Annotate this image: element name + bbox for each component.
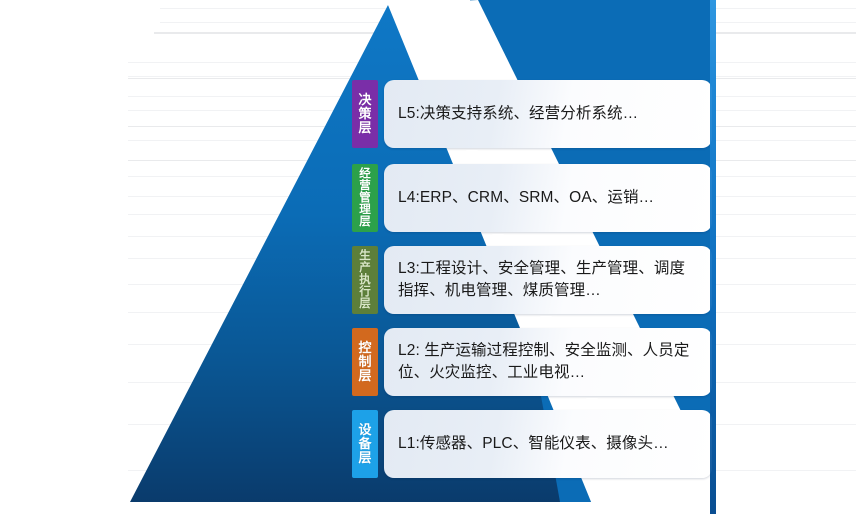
level-card-l2-line-1: 位、火灾监控、工业电视… [398, 362, 689, 384]
level-card-l5[interactable]: L5:决策支持系统、经营分析系统… [384, 80, 712, 148]
level-tag-l2-char-2: 层 [358, 369, 371, 383]
level-row-l1[interactable]: 设 备 层 L1:传感器、PLC、智能仪表、摄像头… [352, 410, 712, 478]
level-tag-l4-char-3: 理 [359, 204, 371, 216]
level-row-l2[interactable]: 控 制 层 L2: 生产运输过程控制、安全监测、人员定 位、火灾监控、工业电视… [352, 328, 712, 396]
level-card-l2-text: L2: 生产运输过程控制、安全监测、人员定 位、火灾监控、工业电视… [398, 340, 689, 385]
level-card-l3-line-0: L3:工程设计、安全管理、生产管理、调度 [398, 258, 685, 280]
level-card-l2[interactable]: L2: 生产运输过程控制、安全监测、人员定 位、火灾监控、工业电视… [384, 328, 712, 396]
level-tag-l1-char-1: 备 [358, 437, 371, 451]
level-row-l4[interactable]: 经 营 管 理 层 L4:ERP、CRM、SRM、OA、运销… [352, 164, 712, 232]
connector-arrow-2 [492, 234, 504, 242]
level-tag-l5[interactable]: 决 策 层 [352, 80, 378, 148]
level-card-l4-text: L4:ERP、CRM、SRM、OA、运销… [398, 187, 654, 209]
level-tag-l4-char-2: 管 [359, 192, 371, 204]
level-tag-l4[interactable]: 经 营 管 理 层 [352, 164, 378, 232]
level-card-l1-line-0: L1:传感器、PLC、智能仪表、摄像头… [398, 433, 669, 455]
level-tag-l4-char-0: 经 [359, 168, 371, 180]
connector-arrow-3 [540, 316, 552, 324]
level-card-l2-line-0: L2: 生产运输过程控制、安全监测、人员定 [398, 340, 689, 362]
level-tag-l3-char-1: 产 [359, 262, 371, 274]
level-card-l3-text: L3:工程设计、安全管理、生产管理、调度 指挥、机电管理、煤质管理… [398, 258, 685, 303]
level-card-l1-text: L1:传感器、PLC、智能仪表、摄像头… [398, 433, 669, 455]
level-tag-l3-char-4: 层 [359, 298, 371, 310]
level-rows: 决 策 层 L5:决策支持系统、经营分析系统… 经 营 管 理 层 [0, 0, 856, 514]
level-card-l4[interactable]: L4:ERP、CRM、SRM、OA、运销… [384, 164, 712, 232]
object-right-edge [710, 0, 716, 514]
level-tag-l5-char-1: 策 [358, 107, 371, 121]
connector-arrow-4 [586, 398, 598, 406]
level-tag-l3-char-2: 执 [359, 274, 371, 286]
level-tag-l2-char-1: 制 [358, 355, 371, 369]
slide-canvas: 决 策 层 L5:决策支持系统、经营分析系统… 经 营 管 理 层 [0, 0, 856, 514]
level-card-l1[interactable]: L1:传感器、PLC、智能仪表、摄像头… [384, 410, 712, 478]
level-tag-l4-char-4: 层 [359, 216, 371, 228]
level-card-l5-text: L5:决策支持系统、经营分析系统… [398, 103, 638, 125]
level-tag-l4-char-1: 营 [359, 180, 371, 192]
level-card-l4-line-0: L4:ERP、CRM、SRM、OA、运销… [398, 187, 654, 209]
level-tag-l3-char-3: 行 [359, 286, 371, 298]
level-tag-l1[interactable]: 设 备 层 [352, 410, 378, 478]
level-tag-l5-char-2: 层 [358, 121, 371, 135]
level-card-l5-line-0: L5:决策支持系统、经营分析系统… [398, 103, 638, 125]
level-row-l3[interactable]: 生 产 执 行 层 L3:工程设计、安全管理、生产管理、调度 指挥、机电管理、煤… [352, 246, 712, 314]
level-card-l3-line-1: 指挥、机电管理、煤质管理… [398, 280, 685, 302]
level-tag-l2[interactable]: 控 制 层 [352, 328, 378, 396]
level-tag-l3-char-0: 生 [359, 250, 371, 262]
level-tag-l3[interactable]: 生 产 执 行 层 [352, 246, 378, 314]
connector-arrow-1 [466, 150, 478, 158]
level-card-l3[interactable]: L3:工程设计、安全管理、生产管理、调度 指挥、机电管理、煤质管理… [384, 246, 712, 314]
level-tag-l1-char-2: 层 [358, 451, 371, 465]
level-row-l5[interactable]: 决 策 层 L5:决策支持系统、经营分析系统… [352, 80, 712, 148]
